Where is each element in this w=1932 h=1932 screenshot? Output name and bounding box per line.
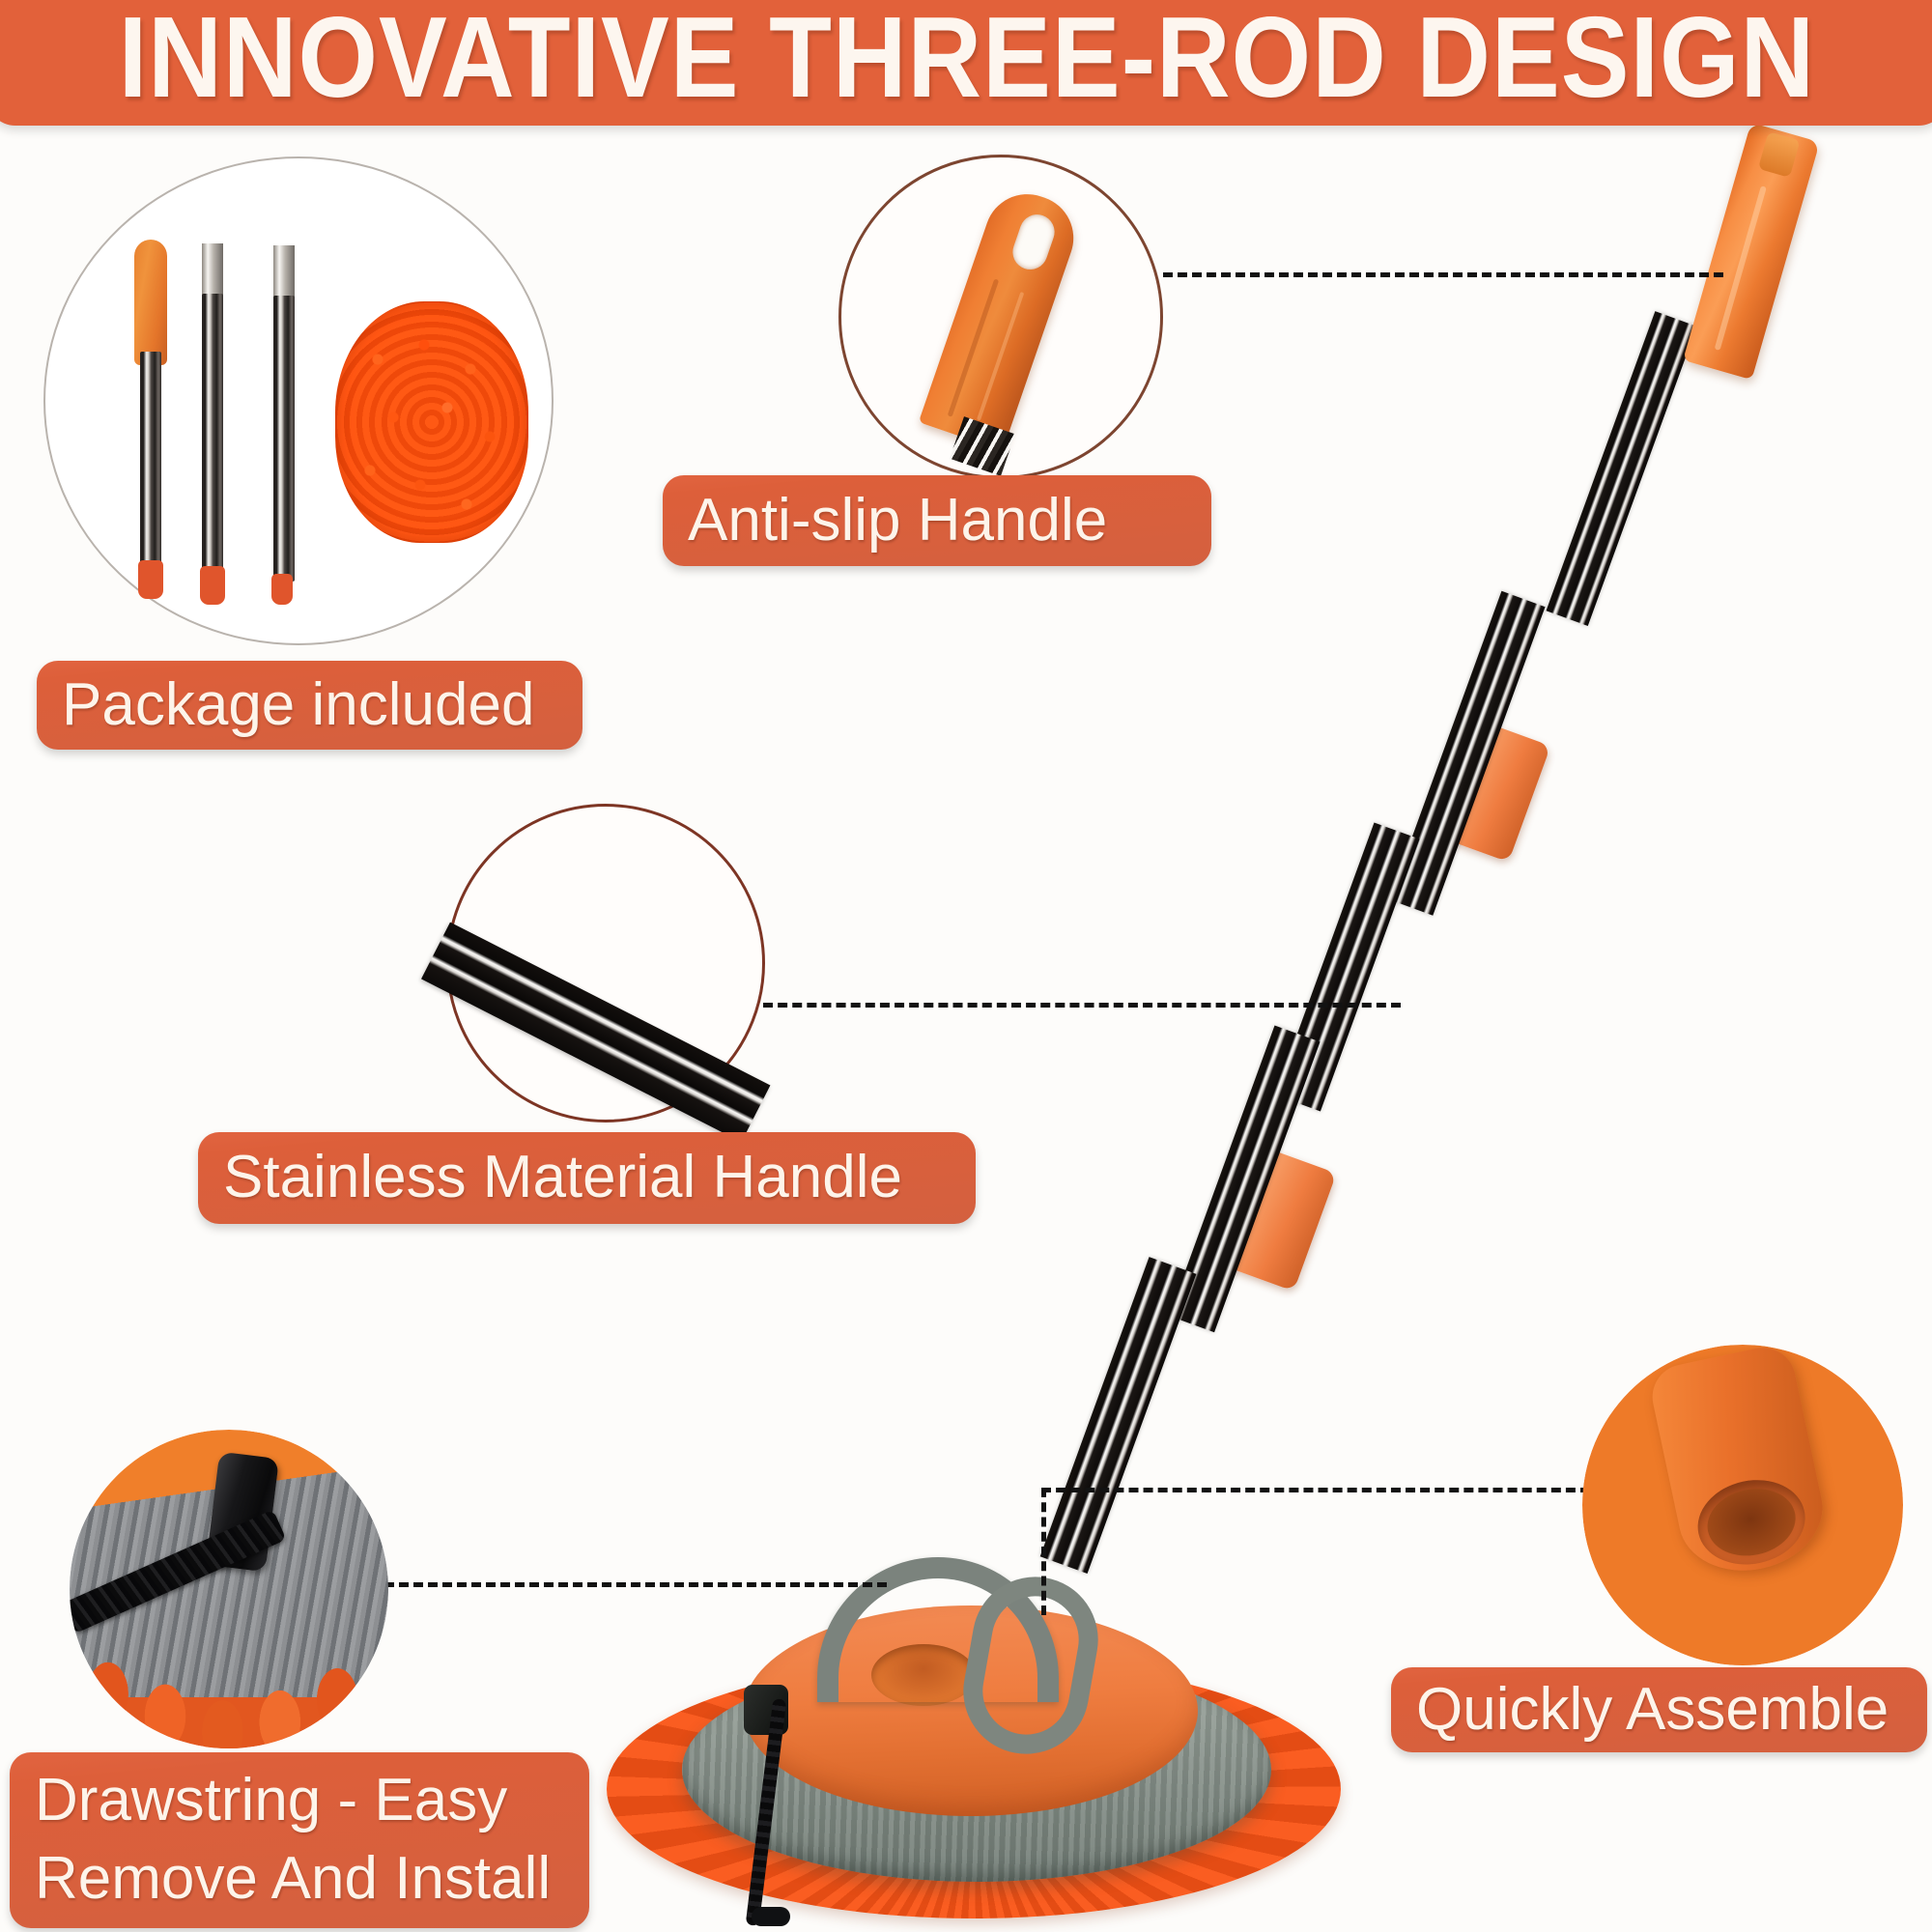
callout-label-stainless: Stainless Material Handle — [198, 1132, 976, 1224]
connector-socket-bore — [1690, 1470, 1812, 1574]
callout-label-stainless-text: Stainless Material Handle — [223, 1139, 902, 1217]
callout-label-drawstring-line2: Remove And Install — [35, 1840, 551, 1918]
callout-label-antislip-text: Anti-slip Handle — [688, 482, 1107, 560]
leader-line-antislip — [1163, 272, 1723, 277]
pole-top-grip — [1683, 123, 1820, 380]
drawstring-fringe-closeup — [70, 1654, 388, 1748]
leader-line-assemble-vertical — [1041, 1488, 1046, 1615]
callout-label-drawstring: Drawstring - Easy Remove And Install — [10, 1752, 589, 1928]
callout-label-antislip: Anti-slip Handle — [663, 475, 1211, 566]
anti-slip-grip-circle — [838, 155, 1163, 479]
title-banner: INNOVATIVE THREE-ROD DESIGN — [0, 0, 1932, 126]
page-title: INNOVATIVE THREE-ROD DESIGN — [119, 1, 1815, 116]
extension-rod-tip-2 — [271, 574, 293, 605]
infographic-canvas: INNOVATIVE THREE-ROD DESIGN — [0, 0, 1932, 1932]
pole-segment-lower-2 — [1040, 1257, 1197, 1574]
extension-rod-1 — [202, 294, 223, 574]
pole-segment-upper — [1547, 311, 1697, 626]
callout-label-assemble-text: Quickly Assemble — [1416, 1671, 1889, 1749]
mop-head — [589, 1544, 1362, 1932]
drawstring-cord-closeup — [70, 1510, 287, 1634]
three-rod-closeup — [421, 923, 770, 1143]
extension-rod-2 — [273, 296, 295, 582]
connector-socket-tube — [1646, 1345, 1833, 1583]
drawstring-toggle-circle — [70, 1430, 388, 1748]
quick-connect-photo — [1582, 1345, 1903, 1665]
leader-line-stainless — [763, 1003, 1401, 1008]
leader-line-assemble-horizontal — [1041, 1488, 1590, 1492]
callout-label-assemble: Quickly Assemble — [1391, 1667, 1927, 1752]
grip-hang-hole — [1009, 210, 1060, 274]
package-parts-circle — [43, 156, 554, 645]
leader-line-drawstring — [384, 1582, 887, 1587]
callout-label-drawstring-line1: Drawstring - Easy — [35, 1762, 507, 1840]
callout-label-package-text: Package included — [62, 667, 534, 745]
anti-slip-grip-closeup — [919, 183, 1085, 451]
callout-label-package: Package included — [37, 661, 582, 750]
extension-rod-ferrule-2 — [273, 245, 295, 303]
chenille-mitt-pad — [335, 301, 528, 543]
stainless-rod-circle — [446, 804, 765, 1122]
grip-seam-left — [948, 278, 1000, 416]
handle-rod-tip — [138, 560, 163, 599]
handle-rod-part — [140, 352, 161, 570]
drawstring-photo — [70, 1430, 388, 1748]
quick-connect-socket-circle — [1582, 1345, 1903, 1665]
handle-grip-part — [134, 240, 167, 365]
mop-drawstring-tip — [752, 1907, 790, 1926]
extension-rod-ferrule-1 — [202, 243, 223, 301]
extension-rod-tip-1 — [200, 566, 225, 605]
